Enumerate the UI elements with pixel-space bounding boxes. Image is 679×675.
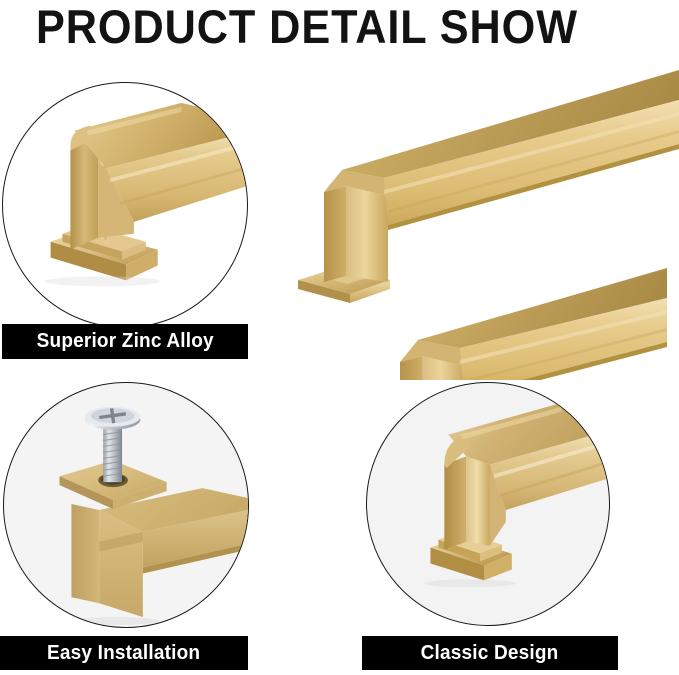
label-classic-design: Classic Design — [362, 636, 618, 670]
classic-design-art — [367, 383, 609, 625]
label-easy-installation: Easy Installation — [0, 636, 248, 670]
feature-circle-easy-installation — [3, 382, 249, 628]
handle-lower — [374, 268, 667, 380]
label-superior-zinc-alloy: Superior Zinc Alloy — [2, 324, 248, 359]
hero-handles-svg — [278, 70, 679, 380]
easy-installation-art — [4, 383, 248, 627]
hero-handles-image — [278, 70, 679, 380]
label-superior-zinc-alloy-text: Superior Zinc Alloy — [36, 330, 213, 353]
handle-upper — [298, 70, 679, 303]
feature-circle-superior-zinc-alloy — [2, 82, 248, 328]
label-classic-design-text: Classic Design — [421, 642, 559, 665]
zinc-alloy-art — [3, 83, 247, 327]
page-title: PRODUCT DETAIL SHOW — [36, 0, 578, 54]
product-detail-page: PRODUCT DETAIL SHOW — [0, 0, 679, 675]
feature-circle-classic-design — [366, 382, 610, 626]
label-easy-installation-text: Easy Installation — [47, 642, 200, 665]
